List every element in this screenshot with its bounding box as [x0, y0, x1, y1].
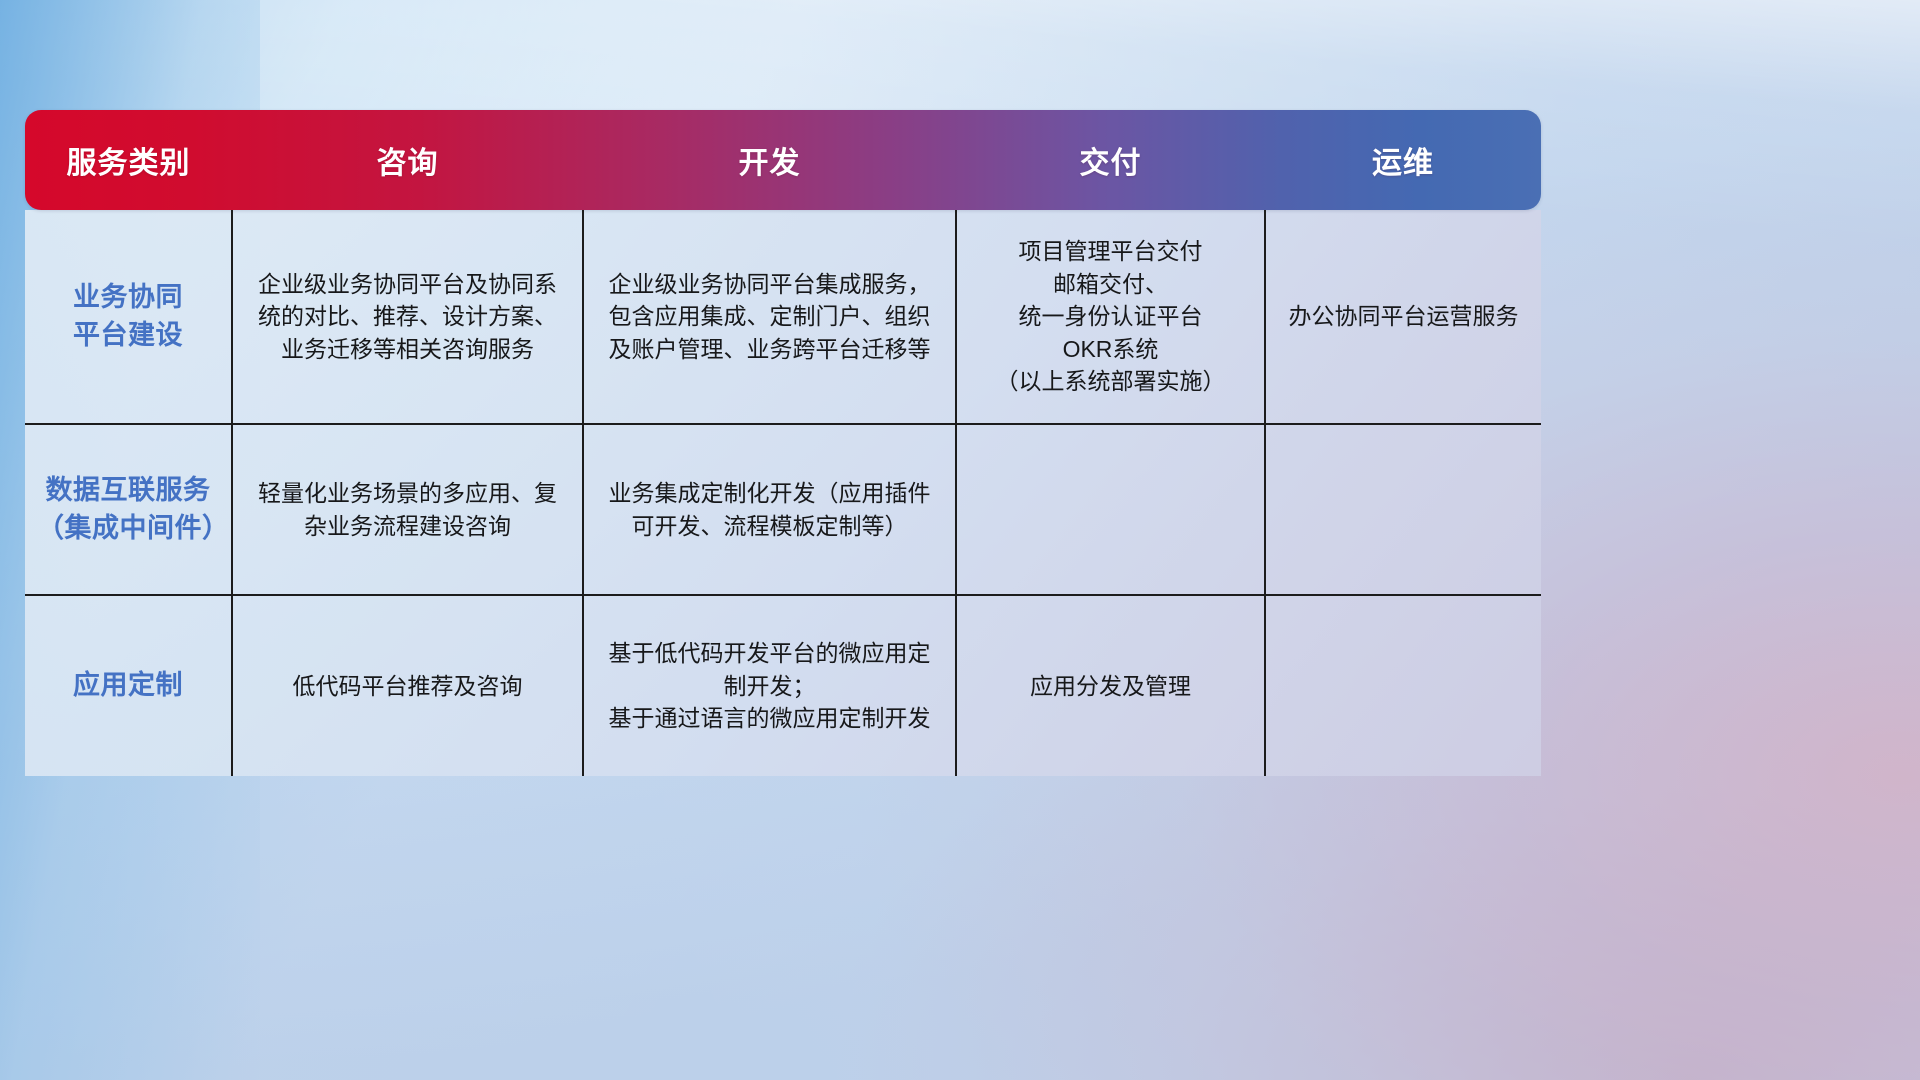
cell-row1-operations: 办公协同平台运营服务	[1266, 210, 1541, 423]
cell-row1-development: 企业级业务协同平台集成服务， 包含应用集成、定制门户、组织 及账户管理、业务跨平…	[584, 210, 955, 423]
cell-row3-delivery: 应用分发及管理	[957, 596, 1264, 776]
cell-row2-consulting: 轻量化业务场景的多应用、复 杂业务流程建设咨询	[233, 425, 582, 594]
column-header-operations: 运维	[1265, 110, 1541, 210]
service-matrix-table: 服务类别 咨询 开发 交付 运维 业务协同 平台建设 企业级业务协同平台及协同系…	[25, 110, 1541, 776]
row-label-business-collaboration-platform: 业务协同 平台建设	[25, 210, 231, 423]
table-header-row: 服务类别 咨询 开发 交付 运维	[25, 110, 1541, 210]
cell-row3-development: 基于低代码开发平台的微应用定 制开发； 基于通过语言的微应用定制开发	[584, 596, 955, 776]
cell-row2-delivery	[957, 425, 1264, 594]
column-header-development: 开发	[583, 110, 956, 210]
cell-row2-development: 业务集成定制化开发（应用插件 可开发、流程模板定制等）	[584, 425, 955, 594]
column-header-delivery: 交付	[956, 110, 1265, 210]
cell-row1-delivery: 项目管理平台交付 邮箱交付、 统一身份认证平台 OKR系统 （以上系统部署实施）	[957, 210, 1264, 423]
cell-row1-consulting: 企业级业务协同平台及协同系 统的对比、推荐、设计方案、 业务迁移等相关咨询服务	[233, 210, 582, 423]
cell-row2-operations	[1266, 425, 1541, 594]
row-label-application-customization: 应用定制	[25, 596, 231, 776]
column-header-consulting: 咨询	[232, 110, 583, 210]
row-label-data-interconnection-service: 数据互联服务 （集成中间件）	[25, 425, 231, 594]
cell-row3-operations	[1266, 596, 1541, 776]
cell-row3-consulting: 低代码平台推荐及咨询	[233, 596, 582, 776]
column-header-service-category: 服务类别	[25, 110, 232, 210]
